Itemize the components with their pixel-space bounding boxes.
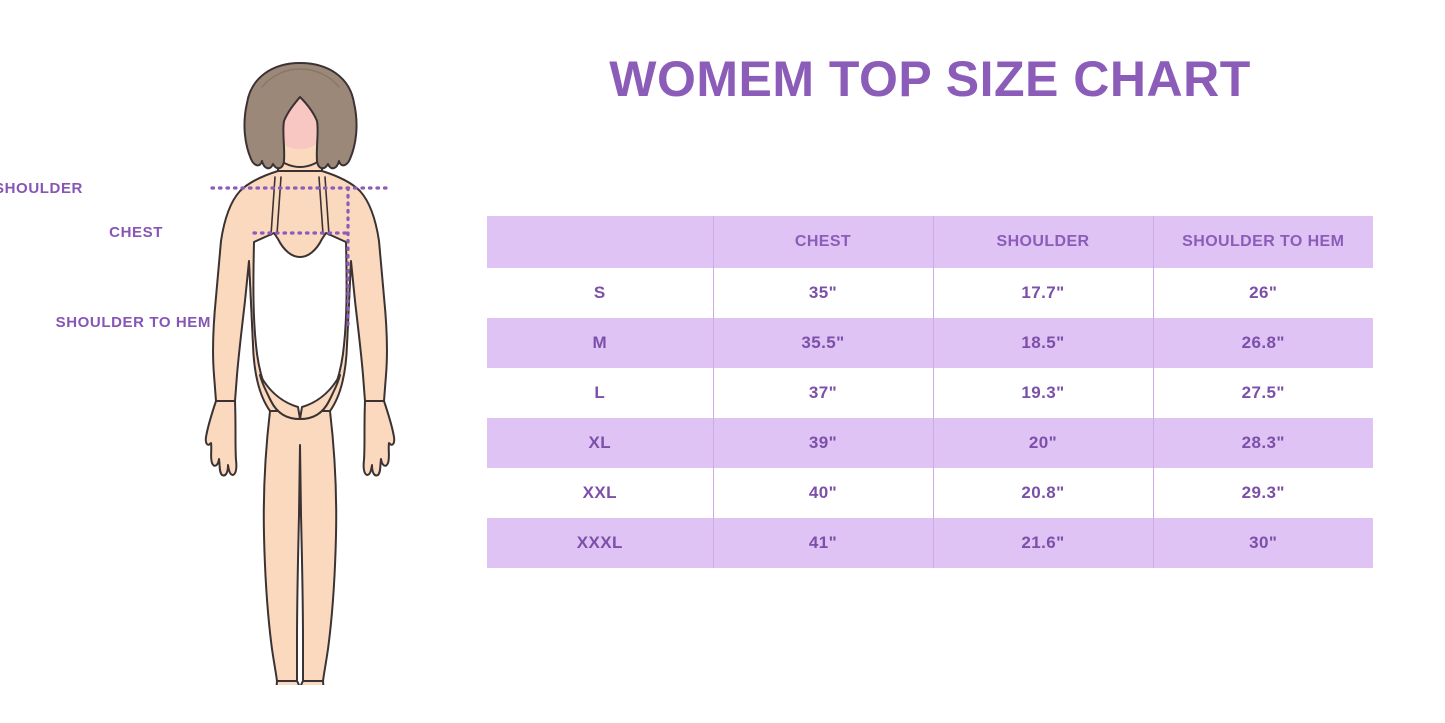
cell-size: XL — [487, 418, 713, 468]
cell-size: S — [487, 268, 713, 318]
legs-shape — [264, 411, 336, 681]
size-chart-canvas: WOMEM TOP SIZE CHART SHOULDER CHEST SHOU… — [0, 0, 1445, 723]
cell-shoulder: 21.6" — [933, 518, 1153, 568]
table-row: L 37" 19.3" 27.5" — [487, 368, 1373, 418]
cell-shoulder-to-hem: 27.5" — [1153, 368, 1373, 418]
table-row: XL 39" 20" 28.3" — [487, 418, 1373, 468]
cell-shoulder-to-hem: 26.8" — [1153, 318, 1373, 368]
table-header-row: CHEST SHOULDER SHOULDER TO HEM — [487, 216, 1373, 268]
cell-size: M — [487, 318, 713, 368]
cell-chest: 35.5" — [713, 318, 933, 368]
right-foot-shape — [300, 681, 324, 685]
cell-size: XXXL — [487, 518, 713, 568]
cell-shoulder-to-hem: 29.3" — [1153, 468, 1373, 518]
column-header-size — [487, 216, 713, 268]
size-chart-table: CHEST SHOULDER SHOULDER TO HEM S 35" 17.… — [487, 216, 1373, 568]
female-body-illustration — [150, 45, 450, 685]
cell-shoulder: 19.3" — [933, 368, 1153, 418]
column-header-chest: CHEST — [713, 216, 933, 268]
table-header: CHEST SHOULDER SHOULDER TO HEM — [487, 216, 1373, 268]
body-figure-svg — [150, 45, 450, 685]
cell-shoulder-to-hem: 26" — [1153, 268, 1373, 318]
column-header-shoulder-to-hem: SHOULDER TO HEM — [1153, 216, 1373, 268]
table-row: XXL 40" 20.8" 29.3" — [487, 468, 1373, 518]
column-header-shoulder: SHOULDER — [933, 216, 1153, 268]
cell-chest: 40" — [713, 468, 933, 518]
cell-chest: 41" — [713, 518, 933, 568]
cell-chest: 37" — [713, 368, 933, 418]
page-title: WOMEM TOP SIZE CHART — [487, 50, 1373, 108]
cell-shoulder: 20" — [933, 418, 1153, 468]
left-foot-shape — [277, 681, 301, 685]
table-row: M 35.5" 18.5" 26.8" — [487, 318, 1373, 368]
measurement-label-shoulder: SHOULDER — [0, 180, 83, 197]
cell-shoulder: 20.8" — [933, 468, 1153, 518]
cell-chest: 39" — [713, 418, 933, 468]
cell-shoulder: 18.5" — [933, 318, 1153, 368]
cell-chest: 35" — [713, 268, 933, 318]
cell-shoulder-to-hem: 28.3" — [1153, 418, 1373, 468]
cell-shoulder-to-hem: 30" — [1153, 518, 1373, 568]
cell-shoulder: 17.7" — [933, 268, 1153, 318]
cell-size: L — [487, 368, 713, 418]
cell-size: XXL — [487, 468, 713, 518]
left-hand-shape — [206, 401, 237, 475]
table-row: XXXL 41" 21.6" 30" — [487, 518, 1373, 568]
table-row: S 35" 17.7" 26" — [487, 268, 1373, 318]
table-body: S 35" 17.7" 26" M 35.5" 18.5" 26.8" L 37… — [487, 268, 1373, 568]
right-hand-shape — [364, 401, 395, 475]
